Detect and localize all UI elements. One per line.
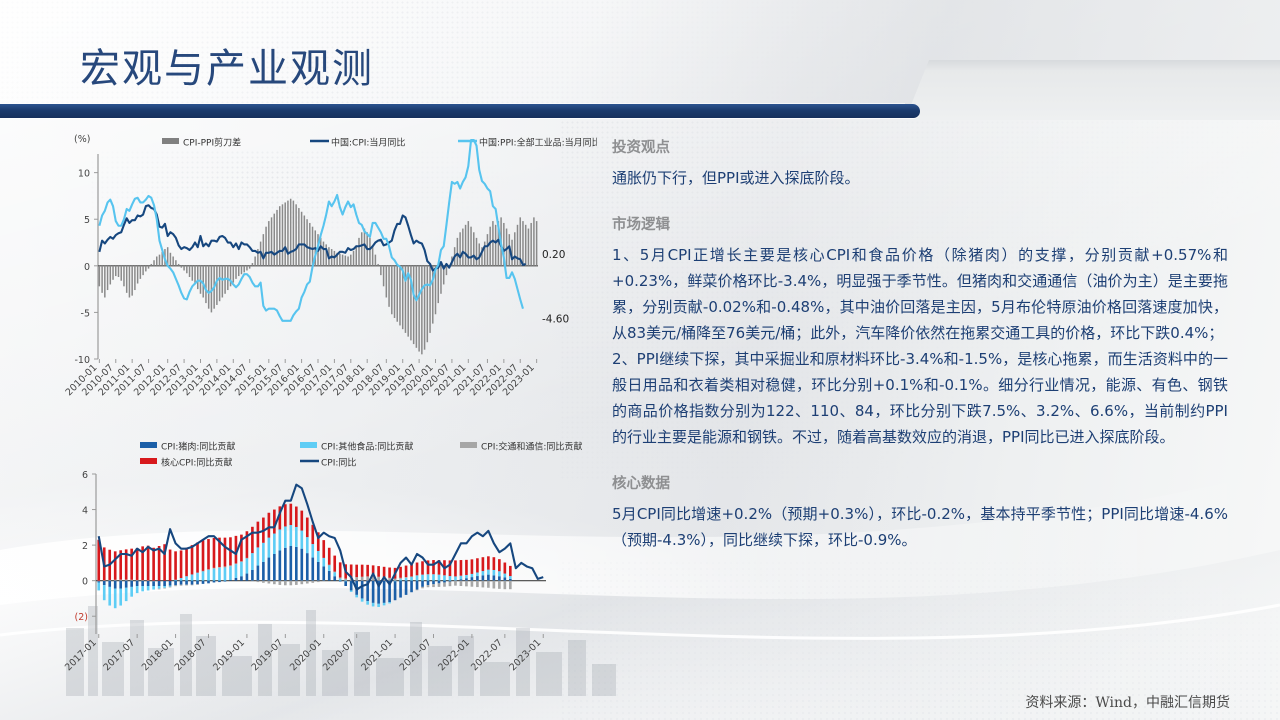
stacked-bar-segment xyxy=(251,570,254,581)
bar xyxy=(183,266,185,271)
stacked-bar-segment xyxy=(460,579,463,580)
bar xyxy=(120,266,122,281)
legend-swatch xyxy=(460,442,477,448)
stacked-bar-segment xyxy=(257,522,260,548)
bar xyxy=(369,238,371,266)
stacked-bar-segment xyxy=(388,602,391,603)
stacked-bar-segment xyxy=(443,581,446,583)
stacked-bar-segment xyxy=(196,581,199,585)
stacked-bar-segment xyxy=(207,539,210,569)
stacked-bar-segment xyxy=(229,565,232,566)
stacked-bar-segment xyxy=(405,577,408,578)
stacked-bar-segment xyxy=(169,550,172,581)
stacked-bar-segment xyxy=(306,553,309,581)
stacked-bar-segment xyxy=(471,577,474,581)
stacked-bar-segment xyxy=(355,565,358,577)
stacked-bar-segment xyxy=(240,562,243,577)
stacked-bar-segment xyxy=(383,567,386,577)
stacked-bar-segment xyxy=(235,563,238,564)
y-tick-label: 0 xyxy=(82,577,88,588)
stacked-bar-segment xyxy=(196,584,199,585)
stacked-bar-segment xyxy=(218,568,221,581)
bar xyxy=(446,266,448,275)
bar xyxy=(279,206,281,266)
stacked-bar-segment xyxy=(224,568,227,581)
bar xyxy=(377,264,379,266)
stacked-bar-segment xyxy=(268,558,271,581)
bar xyxy=(383,266,385,287)
stacked-bar-segment xyxy=(213,568,216,569)
bar xyxy=(394,266,396,318)
stacked-bar-segment xyxy=(141,586,144,591)
stacked-bar-segment xyxy=(383,581,386,603)
stacked-bar-segment xyxy=(394,581,397,601)
bar xyxy=(418,266,420,352)
stacked-bar-segment xyxy=(394,581,397,582)
bar xyxy=(290,199,292,266)
x-tick-label: 2022-07 xyxy=(469,637,505,673)
stacked-bar-segment xyxy=(465,578,468,580)
stacked-bar-segment xyxy=(268,581,271,584)
bar xyxy=(468,221,470,266)
x-tick-label: 2020-07 xyxy=(321,637,357,673)
stacked-bar-segment xyxy=(460,560,463,576)
stacked-bar-segment xyxy=(185,585,188,586)
bar xyxy=(107,266,109,290)
investment-view-heading: 投资观点 xyxy=(612,136,1228,157)
stacked-bar-segment xyxy=(251,527,254,553)
stacked-bar-segment xyxy=(432,584,435,587)
stacked-bar-segment xyxy=(487,581,490,588)
bar xyxy=(533,217,535,265)
x-tick-label: 2021-01 xyxy=(359,637,395,673)
x-tick-label: 2019-07 xyxy=(250,637,286,673)
bar xyxy=(372,245,374,266)
bar xyxy=(238,266,240,276)
stacked-bar-segment xyxy=(185,576,188,580)
stacked-bar-segment xyxy=(328,571,331,581)
bar xyxy=(487,234,489,266)
stacked-bar-segment xyxy=(471,559,474,574)
bar xyxy=(416,266,418,348)
bar xyxy=(530,223,532,266)
bar xyxy=(495,225,497,266)
stacked-bar-segment xyxy=(284,548,287,581)
stacked-bar-segment xyxy=(147,580,150,581)
stacked-bar-segment xyxy=(322,566,325,580)
bar xyxy=(492,221,494,266)
bar xyxy=(325,244,327,265)
bar xyxy=(287,201,289,266)
bar xyxy=(246,266,248,271)
stacked-bar-segment xyxy=(130,580,133,581)
stacked-bar-segment xyxy=(130,587,133,597)
stacked-bar-segment xyxy=(410,564,413,576)
stacked-bar-segment xyxy=(114,589,117,609)
stacked-bar-segment xyxy=(202,571,205,572)
y-tick-label: 0 xyxy=(84,262,90,273)
stacked-bar-segment xyxy=(152,581,155,586)
bar xyxy=(522,221,524,266)
stacked-bar-segment xyxy=(103,580,106,581)
stacked-bar-segment xyxy=(344,581,347,582)
stacked-bar-segment xyxy=(125,581,128,588)
stacked-bar-segment xyxy=(136,581,139,586)
stacked-bar-segment xyxy=(141,580,144,581)
stacked-bar-segment xyxy=(427,574,430,580)
stacked-bar-segment xyxy=(432,560,435,574)
market-logic-paragraph-2: 2、PPI继续下探，其中采掘业和原材料环比-3.4%和-1.5%，是核心拖累，而… xyxy=(612,346,1228,450)
legend-label: CPI:同比 xyxy=(321,457,356,469)
commentary-column: 投资观点 通胀仍下行，但PPI或进入探底阶段。 市场逻辑 1、5月CPI正增长主… xyxy=(612,136,1228,553)
bar xyxy=(295,204,297,266)
stacked-bar-segment xyxy=(339,579,342,581)
bar xyxy=(284,202,286,265)
stacked-bar-segment xyxy=(339,562,342,577)
stacked-bar-segment xyxy=(377,577,380,581)
stacked-bar-segment xyxy=(213,538,216,568)
stacked-bar-segment xyxy=(322,540,325,558)
stacked-bar-segment xyxy=(504,581,507,590)
y-tick-label: (2) xyxy=(75,612,88,623)
stacked-bar-segment xyxy=(443,575,446,580)
stacked-bar-segment xyxy=(152,581,155,582)
bar xyxy=(148,266,150,269)
stacked-bar-segment xyxy=(257,566,260,581)
stacked-bar-segment xyxy=(174,581,177,585)
stacked-bar-segment xyxy=(366,565,369,577)
stacked-bar-segment xyxy=(125,588,128,601)
stacked-bar-segment xyxy=(372,603,375,607)
y-tick-label: 6 xyxy=(82,470,88,481)
x-tick-label: 2022-01 xyxy=(436,637,472,673)
bar xyxy=(243,266,245,273)
bar xyxy=(129,266,131,298)
stacked-bar-segment xyxy=(443,582,446,586)
stacked-bar-segment xyxy=(339,577,342,578)
stacked-bar-segment xyxy=(471,581,474,587)
bar xyxy=(514,232,516,266)
stacked-bar-segment xyxy=(322,581,325,582)
stacked-bar-segment xyxy=(279,581,282,585)
stacked-bar-segment xyxy=(158,586,161,589)
stacked-bar-segment xyxy=(229,580,232,581)
stacked-bar-segment xyxy=(306,518,309,538)
stacked-bar-segment xyxy=(235,578,238,581)
legend-item: CPI:其他食品:同比贡献 xyxy=(300,441,413,453)
stacked-bar-segment xyxy=(147,581,150,586)
stacked-bar-segment xyxy=(103,581,106,585)
stacked-bar-segment xyxy=(169,587,172,588)
legend-swatch xyxy=(140,458,157,464)
stacked-bar-segment xyxy=(504,563,507,574)
stacked-bar-segment xyxy=(119,581,122,589)
bar xyxy=(282,204,284,266)
y-tick-label: -5 xyxy=(81,308,90,319)
stacked-bar-segment xyxy=(207,581,210,584)
stacked-bar-segment xyxy=(136,580,139,581)
stacked-bar-segment xyxy=(498,581,501,589)
bar xyxy=(462,229,464,266)
bar xyxy=(99,266,101,287)
stacked-bar-segment xyxy=(152,586,155,590)
stacked-bar-segment xyxy=(355,595,358,597)
stacked-bar-segment xyxy=(509,566,512,576)
stacked-bar-segment xyxy=(317,562,320,581)
bar xyxy=(101,266,103,293)
stacked-bar-segment xyxy=(218,581,221,582)
stacked-bar-segment xyxy=(114,551,117,579)
bar xyxy=(459,232,461,266)
bar xyxy=(254,257,256,266)
legend-swatch xyxy=(140,442,157,448)
stacked-bar-segment xyxy=(394,579,397,581)
stacked-bar-segment xyxy=(300,511,303,531)
stacked-bar-segment xyxy=(130,581,133,587)
stacked-bar-segment xyxy=(125,580,128,581)
bar xyxy=(156,257,158,266)
stacked-bar-segment xyxy=(306,581,309,584)
bar xyxy=(380,266,382,275)
stacked-bar-segment xyxy=(180,585,183,586)
stacked-bar-segment xyxy=(114,581,117,589)
bar xyxy=(465,225,467,266)
legend-label: CPI:其他食品:同比贡献 xyxy=(321,441,413,453)
bar xyxy=(356,245,358,266)
bar xyxy=(391,266,393,314)
stacked-bar-segment xyxy=(344,581,347,586)
stacked-bar-segment xyxy=(460,581,463,586)
bar xyxy=(421,266,423,355)
bar xyxy=(249,266,251,269)
stacked-bar-segment xyxy=(218,567,221,568)
bar xyxy=(413,266,415,344)
stacked-bar-segment xyxy=(163,586,166,588)
stacked-bar-segment xyxy=(268,538,271,558)
stacked-bar-segment xyxy=(273,554,276,581)
stacked-bar-segment xyxy=(377,604,380,607)
stacked-bar-segment xyxy=(284,581,287,586)
stacked-bar-segment xyxy=(152,548,155,581)
y-tick-label: 2 xyxy=(82,541,88,552)
stacked-bar-segment xyxy=(108,587,111,606)
bar xyxy=(186,266,188,273)
stacked-bar-segment xyxy=(257,581,260,582)
stacked-bar-segment xyxy=(317,551,320,562)
x-tick-label: 2017-01 xyxy=(63,637,99,673)
stacked-bar-segment xyxy=(339,581,342,582)
y-tick-label: -10 xyxy=(74,355,90,366)
stacked-bar-segment xyxy=(416,590,419,591)
stacked-bar-segment xyxy=(290,525,293,546)
source-note: 资料来源：Wind，中融汇信期货 xyxy=(1025,692,1230,712)
stacked-bar-segment xyxy=(361,598,364,601)
stacked-bar-segment xyxy=(240,576,243,580)
bar xyxy=(347,257,349,266)
bar xyxy=(301,212,303,266)
stacked-bar-segment xyxy=(487,570,490,575)
stacked-bar-segment xyxy=(300,581,303,585)
bar xyxy=(170,253,172,266)
bar xyxy=(172,257,174,266)
cpi-contribution-chart: CPI:猪肉:同比贡献CPI:其他食品:同比贡献CPI:交通和通信:同比贡献核心… xyxy=(52,432,597,684)
market-logic-heading: 市场逻辑 xyxy=(612,213,1228,234)
stacked-bar-segment xyxy=(482,575,485,580)
stacked-bar-segment xyxy=(246,574,249,581)
stacked-bar-segment xyxy=(493,575,496,580)
stacked-bar-segment xyxy=(240,561,243,562)
stacked-bar-segment xyxy=(147,546,150,581)
legend-label: 中国:CPI:当月同比 xyxy=(331,137,405,149)
bar xyxy=(304,216,306,266)
stacked-bar-segment xyxy=(290,581,293,586)
bar xyxy=(358,238,360,266)
bar xyxy=(388,266,390,307)
stacked-bar-segment xyxy=(174,580,177,581)
stacked-bar-segment xyxy=(251,581,254,582)
bar xyxy=(397,266,399,322)
bar xyxy=(276,210,278,266)
stacked-bar-segment xyxy=(438,581,441,584)
legend-swatch xyxy=(162,138,179,144)
bar xyxy=(429,266,431,333)
stacked-bar-segment xyxy=(191,581,194,585)
bar xyxy=(137,266,139,284)
stacked-bar-segment xyxy=(273,581,276,585)
stacked-bar-segment xyxy=(196,573,199,581)
stacked-bar-segment xyxy=(449,582,452,587)
bar xyxy=(192,266,194,281)
stacked-bar-segment xyxy=(350,590,353,591)
stacked-bar-segment xyxy=(158,589,161,590)
x-tick-label: 2018-01 xyxy=(140,637,176,673)
stacked-bar-segment xyxy=(202,571,205,581)
stacked-bar-segment xyxy=(136,586,139,593)
stacked-bar-segment xyxy=(300,549,303,581)
bar xyxy=(342,255,344,266)
stacked-bar-segment xyxy=(482,581,485,588)
legend-label: CPI:交通和通信:同比贡献 xyxy=(481,441,582,453)
stacked-bar-segment xyxy=(180,578,183,581)
stacked-bar-segment xyxy=(246,558,249,574)
bar xyxy=(131,266,133,296)
stacked-bar-segment xyxy=(311,581,314,583)
stacked-bar-segment xyxy=(169,586,172,587)
legend-item: CPI:交通和通信:同比贡献 xyxy=(460,441,582,453)
stacked-bar-segment xyxy=(372,581,375,603)
stacked-bar-segment xyxy=(471,574,474,577)
bar xyxy=(306,219,308,266)
stacked-bar-segment xyxy=(355,577,358,581)
bar xyxy=(235,266,237,279)
data-label: 0.20 xyxy=(542,249,565,261)
cpi-ppi-chart: CPI-PPI剪刀差中国:CPI:当月同比中国:PPI:全部工业品:当月同比-1… xyxy=(52,126,597,411)
bar xyxy=(118,266,120,277)
stacked-bar-segment xyxy=(262,562,265,581)
legend-label: 核心CPI:同比贡献 xyxy=(161,457,232,469)
bar xyxy=(265,227,267,266)
stacked-bar-segment xyxy=(246,558,249,559)
stacked-bar-segment xyxy=(476,576,479,581)
stacked-bar-segment xyxy=(366,576,369,580)
stacked-bar-segment xyxy=(504,574,507,578)
stacked-bar-segment xyxy=(449,576,452,581)
stacked-bar-segment xyxy=(361,581,364,599)
bar xyxy=(437,266,439,303)
stacked-bar-segment xyxy=(306,537,309,553)
bar xyxy=(476,238,478,266)
stacked-bar-segment xyxy=(366,601,369,605)
stacked-bar-segment xyxy=(454,581,457,586)
bar xyxy=(252,263,254,266)
y-tick-label: 4 xyxy=(82,506,88,517)
data-label: -4.60 xyxy=(542,314,569,326)
legend-item: CPI:猪肉:同比贡献 xyxy=(140,441,235,453)
bar xyxy=(375,255,377,266)
stacked-bar-segment xyxy=(322,558,325,567)
bar xyxy=(457,238,459,266)
stacked-bar-segment xyxy=(344,579,347,581)
stacked-bar-segment xyxy=(498,559,501,571)
stacked-bar-segment xyxy=(268,513,271,538)
stacked-bar-segment xyxy=(399,567,402,578)
stacked-bar-segment xyxy=(273,534,276,554)
bar xyxy=(241,266,243,274)
bar xyxy=(222,266,224,298)
stacked-bar-segment xyxy=(163,581,166,586)
bar xyxy=(525,225,527,266)
bar xyxy=(361,232,363,266)
stacked-bar-segment xyxy=(405,581,408,595)
cpi-contribution-chart-svg: CPI:猪肉:同比贡献CPI:其他食品:同比贡献CPI:交通和通信:同比贡献核心… xyxy=(52,432,597,684)
stacked-bar-segment xyxy=(421,581,424,587)
bar xyxy=(145,266,147,272)
legend-swatch xyxy=(300,442,317,448)
bar xyxy=(230,266,232,287)
bar xyxy=(159,255,161,266)
bar xyxy=(181,266,183,268)
stacked-bar-segment xyxy=(174,585,177,586)
bar xyxy=(233,266,235,283)
x-tick-label: 2019-01 xyxy=(211,637,247,673)
x-tick-label: 2017-07 xyxy=(101,637,137,673)
legend-label: CPI:猪肉:同比贡献 xyxy=(161,441,235,453)
stacked-bar-segment xyxy=(465,581,468,587)
stacked-bar-segment xyxy=(454,560,457,576)
stacked-bar-segment xyxy=(427,581,430,585)
bar xyxy=(178,264,180,266)
stacked-bar-segment xyxy=(333,572,336,573)
y-axis-label: (%) xyxy=(74,134,90,145)
stacked-bar-segment xyxy=(108,580,111,581)
stacked-bar-segment xyxy=(421,587,424,588)
stacked-bar-segment xyxy=(295,547,298,581)
bar xyxy=(271,217,273,265)
stacked-bar-segment xyxy=(284,526,287,547)
bar xyxy=(208,266,210,309)
stacked-bar-segment xyxy=(279,529,282,550)
investment-view-text: 通胀仍下行，但PPI或进入探底阶段。 xyxy=(612,165,1228,191)
stacked-bar-segment xyxy=(476,558,479,572)
stacked-bar-segment xyxy=(191,545,194,574)
stacked-bar-segment xyxy=(449,581,452,582)
bar xyxy=(399,266,401,326)
stacked-bar-segment xyxy=(174,551,177,579)
stacked-bar-segment xyxy=(262,543,265,562)
stacked-bar-segment xyxy=(141,581,144,586)
bar xyxy=(440,266,442,294)
stacked-bar-segment xyxy=(229,566,232,580)
